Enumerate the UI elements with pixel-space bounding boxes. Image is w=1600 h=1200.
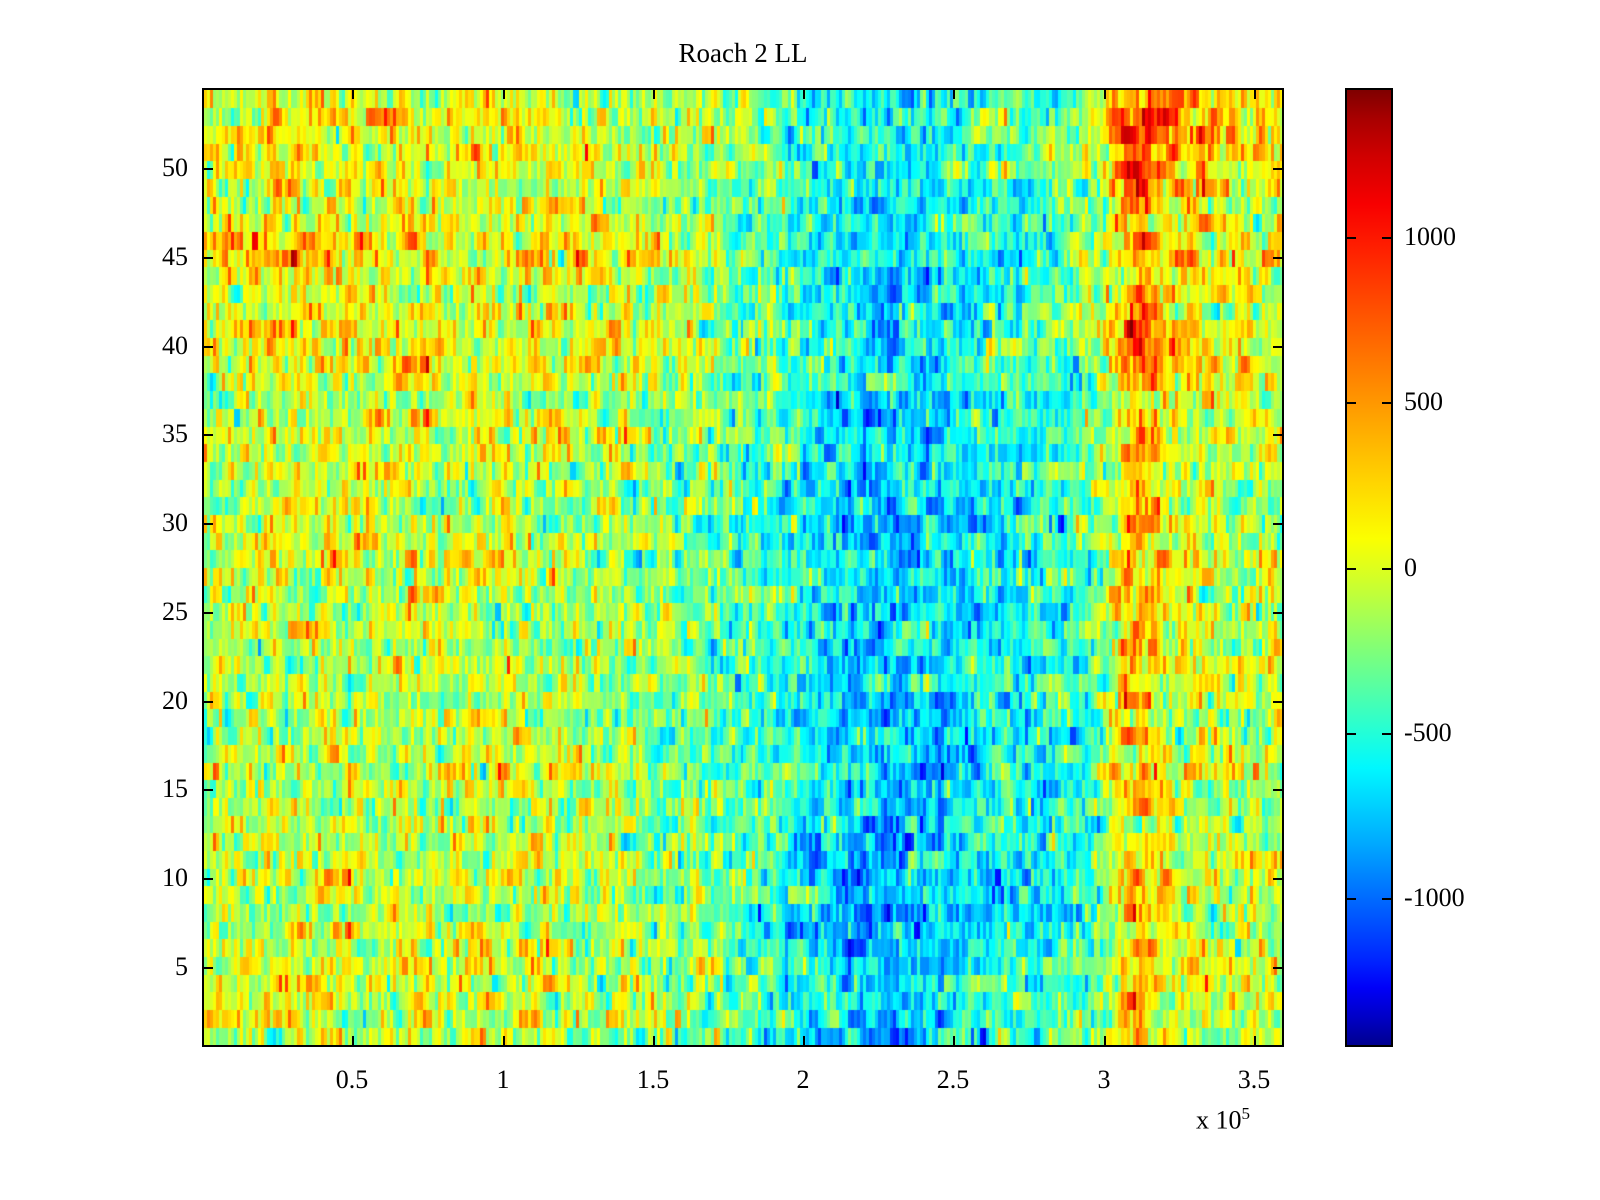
colorbar-tick-label: 500	[1404, 389, 1443, 415]
y-axis-tick	[202, 346, 213, 348]
y-axis-tick-label: 45	[128, 244, 188, 270]
x-axis-tick	[953, 1036, 955, 1047]
y-axis-tick-label: 30	[128, 510, 188, 536]
x-axis-tick-label: 2	[763, 1067, 843, 1093]
x-axis-tick-label: 3	[1064, 1067, 1144, 1093]
y-axis-tick-right	[1273, 967, 1284, 969]
x-axis-tick	[503, 1036, 505, 1047]
x-axis-tick-label: 1	[463, 1067, 543, 1093]
colorbar-tick-label: -1000	[1404, 885, 1465, 911]
y-axis-tick-right	[1273, 789, 1284, 791]
x-axis-tick	[653, 1036, 655, 1047]
x-axis-tick	[352, 1036, 354, 1047]
colorbar-tick	[1345, 733, 1356, 735]
y-axis-tick-label: 5	[128, 954, 188, 980]
y-axis-tick	[202, 523, 213, 525]
page-title: Roach 2 LL	[202, 37, 1284, 69]
x-axis-exponent-label: x 105	[1196, 1104, 1250, 1136]
colorbar-tick-right	[1382, 568, 1393, 570]
colorbar-tick-right	[1382, 898, 1393, 900]
colorbar-tick-label: 0	[1404, 555, 1417, 581]
x-axis-tick	[1104, 1036, 1106, 1047]
colorbar-tick	[1345, 898, 1356, 900]
y-axis-tick-label: 10	[128, 865, 188, 891]
y-axis-tick-label: 25	[128, 599, 188, 625]
y-axis-tick	[202, 168, 213, 170]
y-axis-tick-right	[1273, 523, 1284, 525]
x-axis-tick-top	[503, 88, 505, 99]
x-axis-tick-label: 3.5	[1214, 1067, 1294, 1093]
colorbar-tick	[1345, 568, 1356, 570]
y-axis-tick-right	[1273, 168, 1284, 170]
y-axis-tick-right	[1273, 346, 1284, 348]
y-axis-tick-right	[1273, 612, 1284, 614]
x-axis-tick-top	[653, 88, 655, 99]
colorbar-tick-label: 1000	[1404, 224, 1456, 250]
x-axis-tick-top	[953, 88, 955, 99]
x-axis-tick-top	[1254, 88, 1256, 99]
y-axis-tick-label: 40	[128, 333, 188, 359]
y-axis-tick-label: 50	[128, 155, 188, 181]
x-axis-tick	[803, 1036, 805, 1047]
x-axis-tick-top	[1104, 88, 1106, 99]
y-axis-tick	[202, 612, 213, 614]
x-axis-tick-label: 2.5	[913, 1067, 993, 1093]
y-axis-tick-right	[1273, 701, 1284, 703]
colorbar-tick-label: -500	[1404, 720, 1452, 746]
figure-canvas: Roach 2 LL 51015202530354045500.511.522.…	[0, 0, 1600, 1200]
x-exponent-base: x 10	[1196, 1106, 1242, 1135]
y-axis-tick-right	[1273, 257, 1284, 259]
y-axis-tick	[202, 701, 213, 703]
y-axis-tick-label: 15	[128, 776, 188, 802]
y-axis-tick	[202, 878, 213, 880]
y-axis-tick-label: 35	[128, 421, 188, 447]
x-axis-tick	[1254, 1036, 1256, 1047]
y-axis-tick-right	[1273, 878, 1284, 880]
y-axis-tick-right	[1273, 434, 1284, 436]
x-axis-tick-label: 1.5	[613, 1067, 693, 1093]
y-axis-tick	[202, 967, 213, 969]
heatmap-image	[204, 90, 1282, 1045]
x-axis-tick-top	[352, 88, 354, 99]
x-axis-tick-label: 0.5	[312, 1067, 392, 1093]
y-axis-tick-label: 20	[128, 688, 188, 714]
y-axis-tick	[202, 434, 213, 436]
x-exponent-power: 5	[1242, 1104, 1251, 1123]
colorbar-tick	[1345, 237, 1356, 239]
heatmap-plot-area[interactable]	[202, 88, 1284, 1047]
colorbar-tick-right	[1382, 402, 1393, 404]
colorbar-tick-right	[1382, 733, 1393, 735]
x-axis-tick-top	[803, 88, 805, 99]
y-axis-tick	[202, 789, 213, 791]
y-axis-tick	[202, 257, 213, 259]
colorbar-tick-right	[1382, 237, 1393, 239]
colorbar-tick	[1345, 402, 1356, 404]
